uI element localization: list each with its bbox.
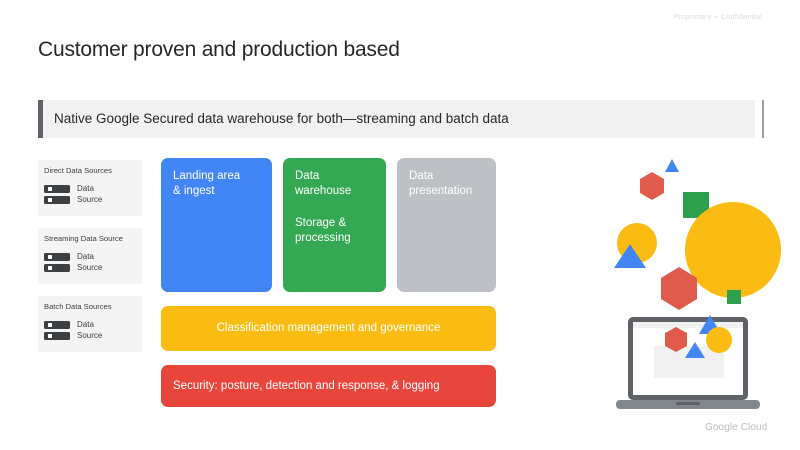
source-card-title: Direct Data Sources xyxy=(44,166,112,175)
server-rack-icon xyxy=(44,321,70,341)
source-card-label-line2: Source xyxy=(77,331,102,342)
source-card-streaming: Streaming Data Source Data Source xyxy=(38,228,142,284)
google-cloud-logo: Google Cloud xyxy=(705,422,767,433)
layer-bar-security-label: Security: posture, detection and respons… xyxy=(173,365,440,407)
server-rack-unit xyxy=(44,196,70,205)
source-card-label-line2: Source xyxy=(77,195,102,206)
laptop-trackpad-notch xyxy=(676,402,700,405)
green-square-small-icon xyxy=(727,290,741,304)
source-card-label: Data Source xyxy=(77,320,102,341)
source-card-body: Data Source xyxy=(44,252,102,273)
stage-box-subheading: Storage & processing xyxy=(295,216,351,246)
server-rack-unit xyxy=(44,185,70,194)
server-rack-unit xyxy=(44,264,70,273)
server-rack-unit xyxy=(44,253,70,262)
layer-bar-security: Security: posture, detection and respons… xyxy=(161,365,496,407)
banner: Native Google Secured data warehouse for… xyxy=(38,100,755,138)
stage-box-heading: Landing area & ingest xyxy=(173,169,240,199)
source-card-label: Data Source xyxy=(77,252,102,273)
stage-box-data-warehouse: Data warehouse Storage & processing xyxy=(283,158,386,292)
stage-box-heading: Data presentation xyxy=(409,169,472,199)
source-card-label-line1: Data xyxy=(77,184,102,195)
source-card-body: Data Source xyxy=(44,184,102,205)
blue-triangle-icon xyxy=(665,159,679,172)
source-card-body: Data Source xyxy=(44,320,102,341)
banner-text: Native Google Secured data warehouse for… xyxy=(54,100,509,138)
source-card-label: Data Source xyxy=(77,184,102,205)
laptop-with-floating-shapes-illustration xyxy=(600,150,795,415)
layer-bar-governance-label: Classification management and governance xyxy=(161,306,496,351)
red-hexagon-icon xyxy=(640,172,664,200)
stage-box-data-presentation: Data presentation xyxy=(397,158,496,292)
server-rack-unit xyxy=(44,332,70,341)
source-card-label-line2: Source xyxy=(77,263,102,274)
stage-box-heading: Data warehouse xyxy=(295,169,351,199)
source-card-title: Streaming Data Source xyxy=(44,234,123,243)
source-card-label-line1: Data xyxy=(77,320,102,331)
banner-right-rule xyxy=(762,100,764,138)
server-rack-icon xyxy=(44,185,70,205)
banner-accent-bar xyxy=(38,100,43,138)
server-rack-icon xyxy=(44,253,70,273)
confidential-note: Proprietary + Confidential xyxy=(673,12,762,21)
source-card-label-line1: Data xyxy=(77,252,102,263)
server-rack-unit xyxy=(44,321,70,330)
source-card-title: Batch Data Sources xyxy=(44,302,112,311)
layer-bar-governance: Classification management and governance xyxy=(161,306,496,351)
stage-box-landing-area: Landing area & ingest xyxy=(161,158,272,292)
yellow-circle-icon xyxy=(706,327,732,353)
laptop-screen-toolbar xyxy=(633,322,743,328)
page-title: Customer proven and production based xyxy=(38,38,400,62)
source-card-direct: Direct Data Sources Data Source xyxy=(38,160,142,216)
source-card-batch: Batch Data Sources Data Source xyxy=(38,296,142,352)
yellow-circle-large-icon xyxy=(685,202,781,298)
